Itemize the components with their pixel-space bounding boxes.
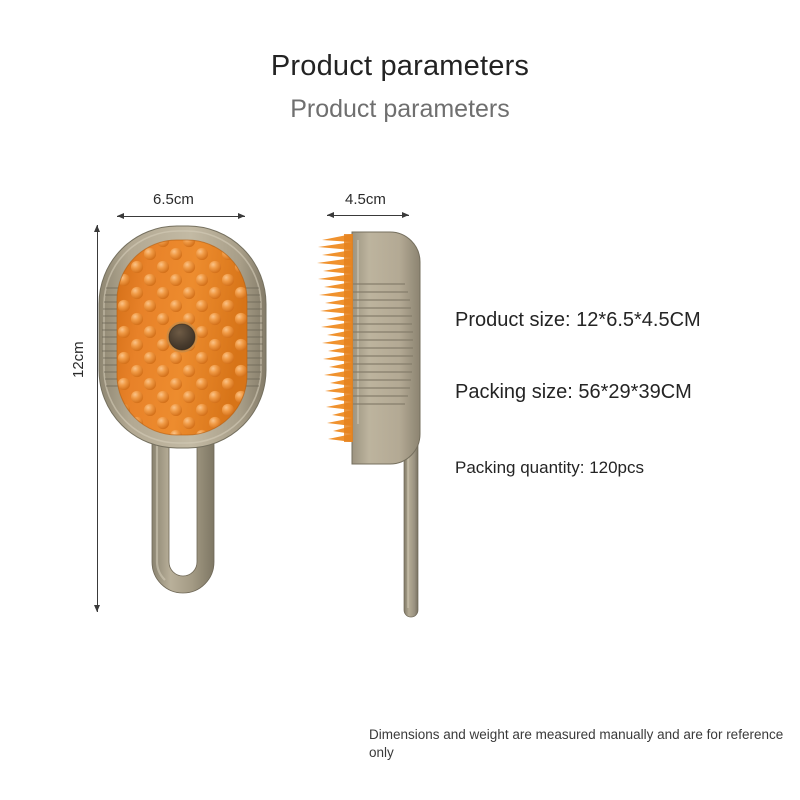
measurement-disclaimer: Dimensions and weight are measured manua… xyxy=(369,726,789,762)
product-parameters-page: Product parameters Product parameters xyxy=(0,0,800,800)
bristles xyxy=(317,234,353,442)
brush-front-view xyxy=(99,226,266,593)
brush-side-view xyxy=(317,232,420,617)
side-width-arrow xyxy=(327,215,409,216)
center-spray-hole xyxy=(167,322,198,353)
front-width-arrow xyxy=(117,216,245,217)
spec-packing-size: Packing size: 56*29*39CM xyxy=(455,381,692,404)
height-arrow xyxy=(97,225,98,612)
front-width-label: 6.5cm xyxy=(153,191,194,208)
spec-product-size: Product size: 12*6.5*4.5CM xyxy=(455,309,701,332)
height-label: 12cm xyxy=(70,341,87,378)
spec-packing-quantity: Packing quantity: 120pcs xyxy=(455,458,644,478)
side-width-label: 4.5cm xyxy=(345,191,386,208)
